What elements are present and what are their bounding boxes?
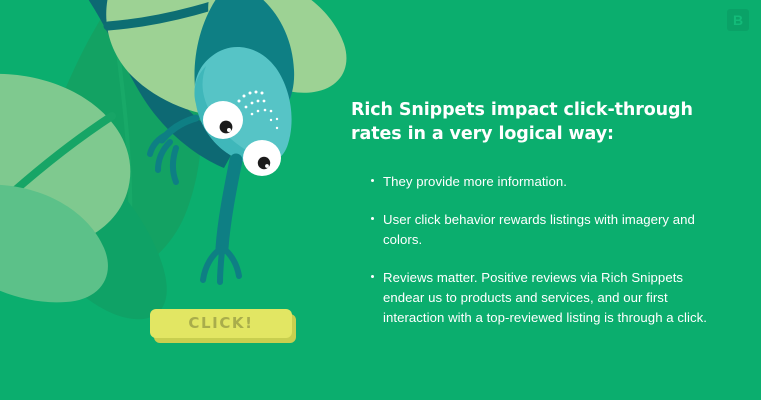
bullet-dot-icon xyxy=(371,179,374,182)
list-item: Reviews matter. Positive reviews via Ric… xyxy=(371,268,711,328)
brand-b-icon[interactable]: B xyxy=(727,9,749,31)
list-item-label: Reviews matter. Positive reviews via Ric… xyxy=(383,270,707,325)
benefits-list: They provide more information. User clic… xyxy=(371,172,711,328)
page-title: Rich Snippets impact click-through rates… xyxy=(351,99,701,147)
list-item: They provide more information. xyxy=(371,172,711,192)
chameleon-eye-left xyxy=(203,101,243,139)
chameleon-eye-highlight-left xyxy=(227,128,231,132)
chameleon-finger-3 xyxy=(173,148,176,182)
chameleon-toe-2 xyxy=(220,250,222,282)
list-item: User click behavior rewards listings wit… xyxy=(371,210,711,250)
bullet-dot-icon xyxy=(371,275,374,278)
bullet-dot-icon xyxy=(371,217,374,220)
chameleon-pupil-left xyxy=(220,121,233,134)
chameleon-eye-highlight-right xyxy=(265,164,269,168)
copy-panel: Rich Snippets impact click-through rates… xyxy=(351,99,711,147)
click-cta-button[interactable]: CLICK! xyxy=(150,309,292,338)
list-item-label: They provide more information. xyxy=(383,174,567,189)
list-item-label: User click behavior rewards listings wit… xyxy=(383,212,695,247)
slide-canvas: B Rich Snippets impact click-through rat… xyxy=(0,0,761,400)
